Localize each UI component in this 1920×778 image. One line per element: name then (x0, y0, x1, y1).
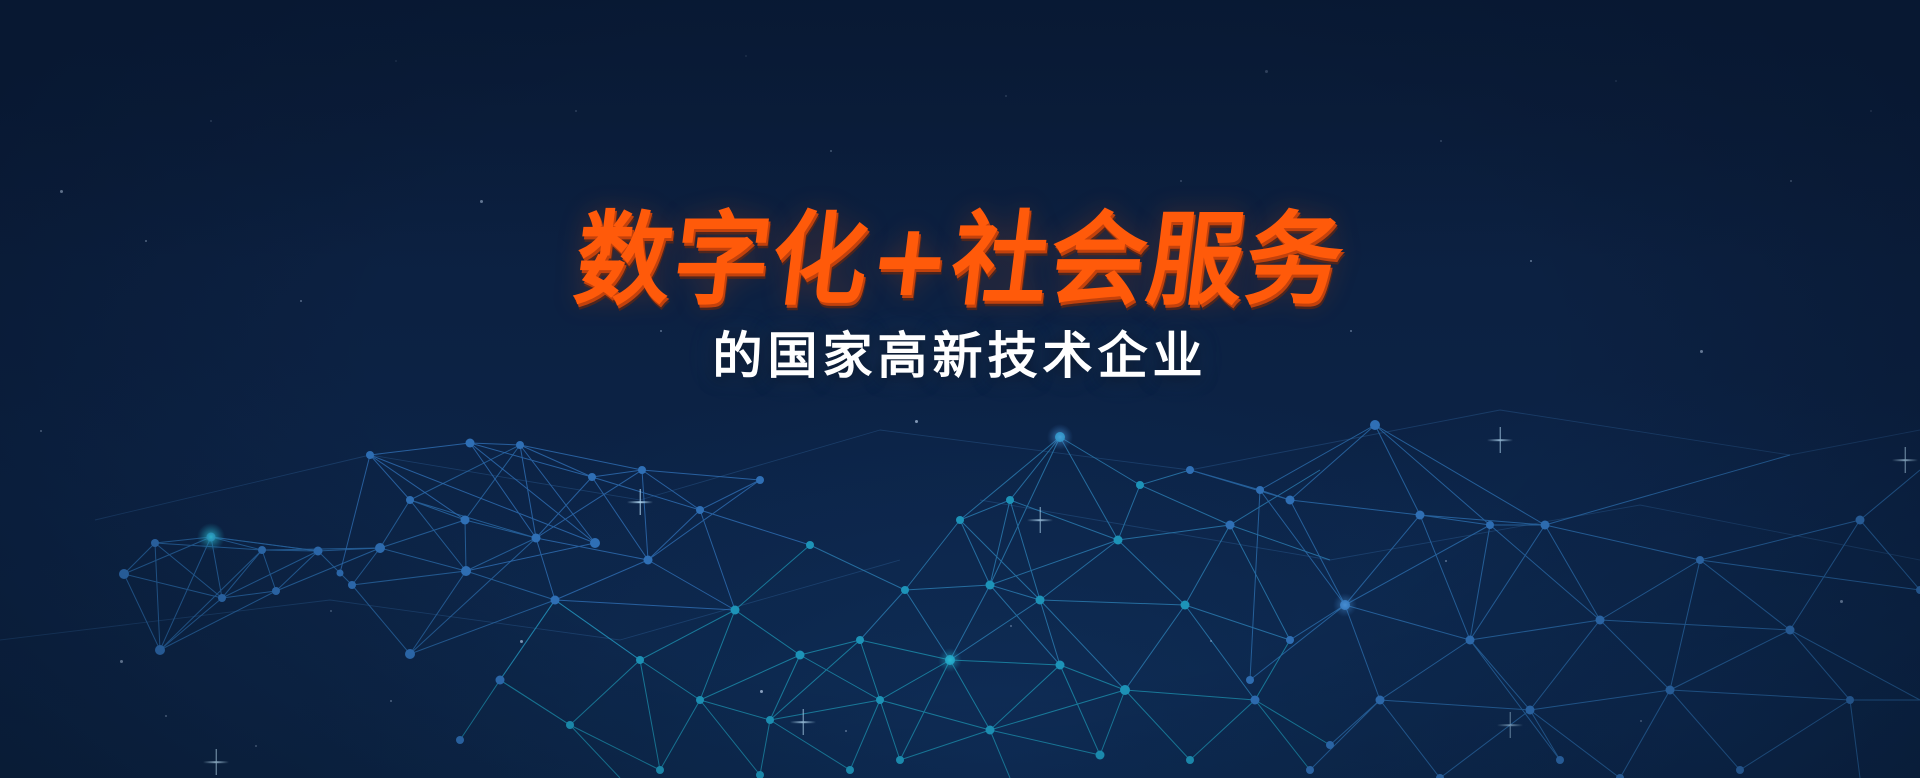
starfield-graphic (0, 0, 1920, 778)
banner-root: 数字化+社会服务 的国家高新技术企业 (0, 0, 1920, 778)
